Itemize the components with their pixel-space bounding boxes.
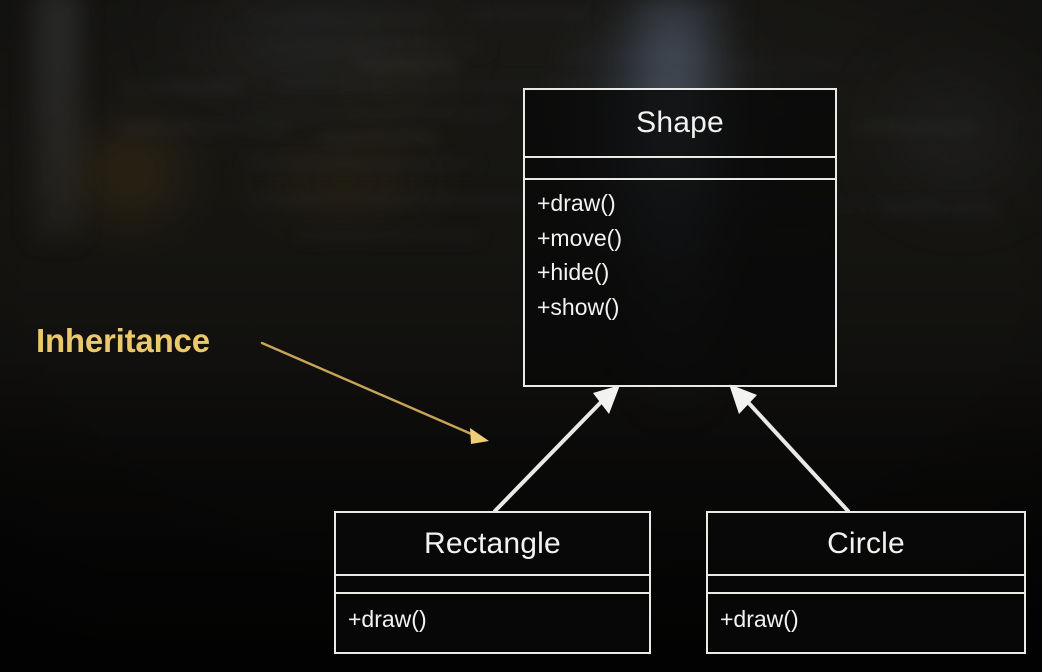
method-item: +draw(): [348, 602, 649, 637]
method-item: +draw(): [720, 602, 1024, 637]
class-name-circle: Circle: [708, 513, 1024, 576]
method-item: +hide(): [537, 255, 835, 290]
methods-compartment-shape: +draw() +move() +hide() +show(): [525, 180, 835, 324]
inheritance-annotation-label: Inheritance: [36, 322, 210, 360]
attributes-compartment-shape: [525, 158, 835, 180]
attributes-compartment-circle: [708, 576, 1024, 594]
class-name-rectangle: Rectangle: [336, 513, 649, 576]
attributes-compartment-rectangle: [336, 576, 649, 594]
uml-class-shape[interactable]: Shape +draw() +move() +hide() +show(): [523, 88, 837, 387]
methods-compartment-circle: +draw(): [708, 594, 1024, 637]
uml-class-circle[interactable]: Circle +draw(): [706, 511, 1026, 654]
method-item: +show(): [537, 290, 835, 325]
uml-class-rectangle[interactable]: Rectangle +draw(): [334, 511, 651, 654]
slide-canvas: Shape +draw() +move() +hide() +show() Re…: [0, 0, 1042, 672]
methods-compartment-rectangle: +draw(): [336, 594, 649, 637]
method-item: +move(): [537, 221, 835, 256]
class-name-shape: Shape: [525, 90, 835, 158]
method-item: +draw(): [537, 186, 835, 221]
